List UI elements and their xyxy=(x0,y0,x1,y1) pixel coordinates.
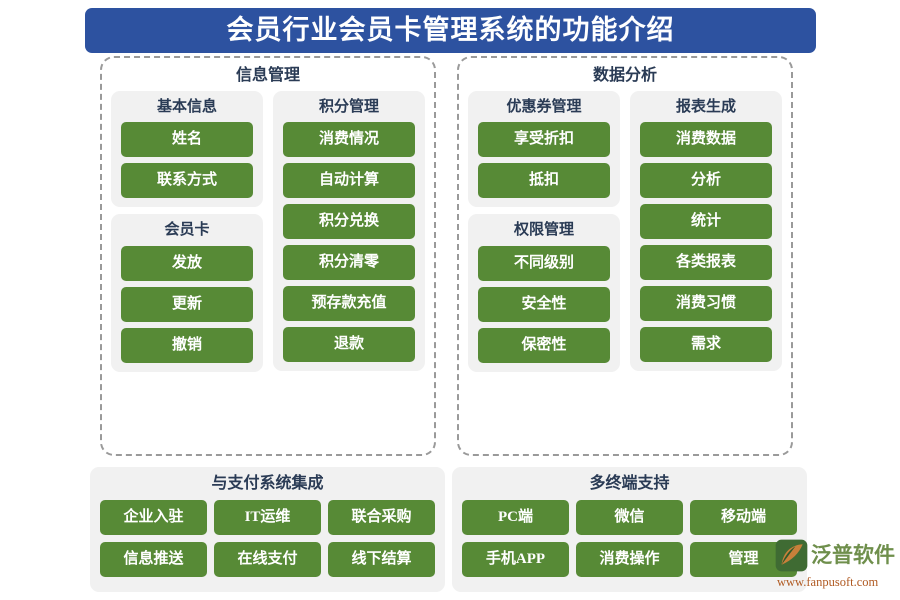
chip-points-management-1[interactable]: 自动计算 xyxy=(283,163,415,198)
page-title: 会员行业会员卡管理系统的功能介绍 xyxy=(227,17,675,44)
chip-multi-terminal-0[interactable]: PC端 xyxy=(462,500,569,535)
column-analysis-left: 优惠券管理享受折扣抵扣权限管理不同级别安全性保密性 xyxy=(468,91,620,372)
chip-grid-payment-integration: 企业入驻IT运维联合采购信息推送在线支付线下结算 xyxy=(100,500,435,577)
chip-multi-terminal-3[interactable]: 手机APP xyxy=(462,542,569,577)
chip-stack-permission-management: 不同级别安全性保密性 xyxy=(478,246,610,363)
subcard-coupon-management: 优惠券管理享受折扣抵扣 xyxy=(468,91,620,207)
bottom-title-multi-terminal: 多终端支持 xyxy=(462,472,797,496)
chip-multi-terminal-2[interactable]: 移动端 xyxy=(690,500,797,535)
bottom-panel-multi-terminal: 多终端支持PC端微信移动端手机APP消费操作管理 xyxy=(452,467,807,592)
chip-stack-points-management: 消费情况自动计算积分兑换积分清零预存款充值退款 xyxy=(283,122,415,362)
chip-stack-coupon-management: 享受折扣抵扣 xyxy=(478,122,610,198)
chip-coupon-management-0[interactable]: 享受折扣 xyxy=(478,122,610,157)
chip-payment-integration-2[interactable]: 联合采购 xyxy=(328,500,435,535)
subcard-title-basic-info: 基本信息 xyxy=(121,96,253,119)
group-columns-data-analysis: 优惠券管理享受折扣抵扣权限管理不同级别安全性保密性报表生成消费数据分析统计各类报… xyxy=(468,91,782,372)
chip-points-management-0[interactable]: 消费情况 xyxy=(283,122,415,157)
group-panel-data-analysis: 数据分析优惠券管理享受折扣抵扣权限管理不同级别安全性保密性报表生成消费数据分析统… xyxy=(457,56,793,456)
subcard-title-points-management: 积分管理 xyxy=(283,96,415,119)
chip-report-generation-5[interactable]: 需求 xyxy=(640,327,772,362)
chip-stack-member-card: 发放更新撤销 xyxy=(121,246,253,363)
chip-member-card-1[interactable]: 更新 xyxy=(121,287,253,322)
chip-stack-report-generation: 消费数据分析统计各类报表消费习惯需求 xyxy=(640,122,772,362)
chip-basic-info-0[interactable]: 姓名 xyxy=(121,122,253,157)
group-panel-info-management: 信息管理基本信息姓名联系方式会员卡发放更新撤销积分管理消费情况自动计算积分兑换积… xyxy=(100,56,436,456)
subcard-title-report-generation: 报表生成 xyxy=(640,96,772,119)
bottom-title-payment-integration: 与支付系统集成 xyxy=(100,472,435,496)
chip-payment-integration-5[interactable]: 线下结算 xyxy=(328,542,435,577)
subcard-member-card: 会员卡发放更新撤销 xyxy=(111,214,263,371)
chip-report-generation-0[interactable]: 消费数据 xyxy=(640,122,772,157)
chip-multi-terminal-1[interactable]: 微信 xyxy=(576,500,683,535)
chip-points-management-3[interactable]: 积分清零 xyxy=(283,245,415,280)
subcard-title-coupon-management: 优惠券管理 xyxy=(478,96,610,119)
subcard-basic-info: 基本信息姓名联系方式 xyxy=(111,91,263,207)
chip-member-card-0[interactable]: 发放 xyxy=(121,246,253,281)
chip-payment-integration-1[interactable]: IT运维 xyxy=(214,500,321,535)
column-info-right: 积分管理消费情况自动计算积分兑换积分清零预存款充值退款 xyxy=(273,91,425,371)
subcard-permission-management: 权限管理不同级别安全性保密性 xyxy=(468,214,620,371)
chip-permission-management-2[interactable]: 保密性 xyxy=(478,328,610,363)
chip-stack-basic-info: 姓名联系方式 xyxy=(121,122,253,198)
watermark-brand: 泛普软件 xyxy=(811,545,895,566)
subcard-points-management: 积分管理消费情况自动计算积分兑换积分清零预存款充值退款 xyxy=(273,91,425,371)
column-info-left: 基本信息姓名联系方式会员卡发放更新撤销 xyxy=(111,91,263,372)
chip-points-management-2[interactable]: 积分兑换 xyxy=(283,204,415,239)
chip-payment-integration-0[interactable]: 企业入驻 xyxy=(100,500,207,535)
chip-payment-integration-4[interactable]: 在线支付 xyxy=(214,542,321,577)
bottom-panel-payment-integration: 与支付系统集成企业入驻IT运维联合采购信息推送在线支付线下结算 xyxy=(90,467,445,592)
group-title-data-analysis: 数据分析 xyxy=(468,64,782,87)
chip-report-generation-3[interactable]: 各类报表 xyxy=(640,245,772,280)
chip-basic-info-1[interactable]: 联系方式 xyxy=(121,163,253,198)
page-title-banner: 会员行业会员卡管理系统的功能介绍 xyxy=(85,8,816,53)
chip-grid-multi-terminal: PC端微信移动端手机APP消费操作管理 xyxy=(462,500,797,577)
infographic-root: 会员行业会员卡管理系统的功能介绍 信息管理基本信息姓名联系方式会员卡发放更新撤销… xyxy=(0,0,900,600)
chip-points-management-5[interactable]: 退款 xyxy=(283,327,415,362)
chip-multi-terminal-5[interactable]: 管理 xyxy=(690,542,797,577)
chip-coupon-management-1[interactable]: 抵扣 xyxy=(478,163,610,198)
subcard-title-member-card: 会员卡 xyxy=(121,219,253,242)
chip-member-card-2[interactable]: 撤销 xyxy=(121,328,253,363)
group-columns-info-management: 基本信息姓名联系方式会员卡发放更新撤销积分管理消费情况自动计算积分兑换积分清零预… xyxy=(111,91,425,372)
subcard-report-generation: 报表生成消费数据分析统计各类报表消费习惯需求 xyxy=(630,91,782,371)
chip-report-generation-4[interactable]: 消费习惯 xyxy=(640,286,772,321)
subcard-title-permission-management: 权限管理 xyxy=(478,219,610,242)
group-title-info-management: 信息管理 xyxy=(111,64,425,87)
chip-payment-integration-3[interactable]: 信息推送 xyxy=(100,542,207,577)
column-analysis-right: 报表生成消费数据分析统计各类报表消费习惯需求 xyxy=(630,91,782,371)
chip-permission-management-0[interactable]: 不同级别 xyxy=(478,246,610,281)
chip-report-generation-1[interactable]: 分析 xyxy=(640,163,772,198)
chip-report-generation-2[interactable]: 统计 xyxy=(640,204,772,239)
chip-permission-management-1[interactable]: 安全性 xyxy=(478,287,610,322)
chip-multi-terminal-4[interactable]: 消费操作 xyxy=(576,542,683,577)
chip-points-management-4[interactable]: 预存款充值 xyxy=(283,286,415,321)
